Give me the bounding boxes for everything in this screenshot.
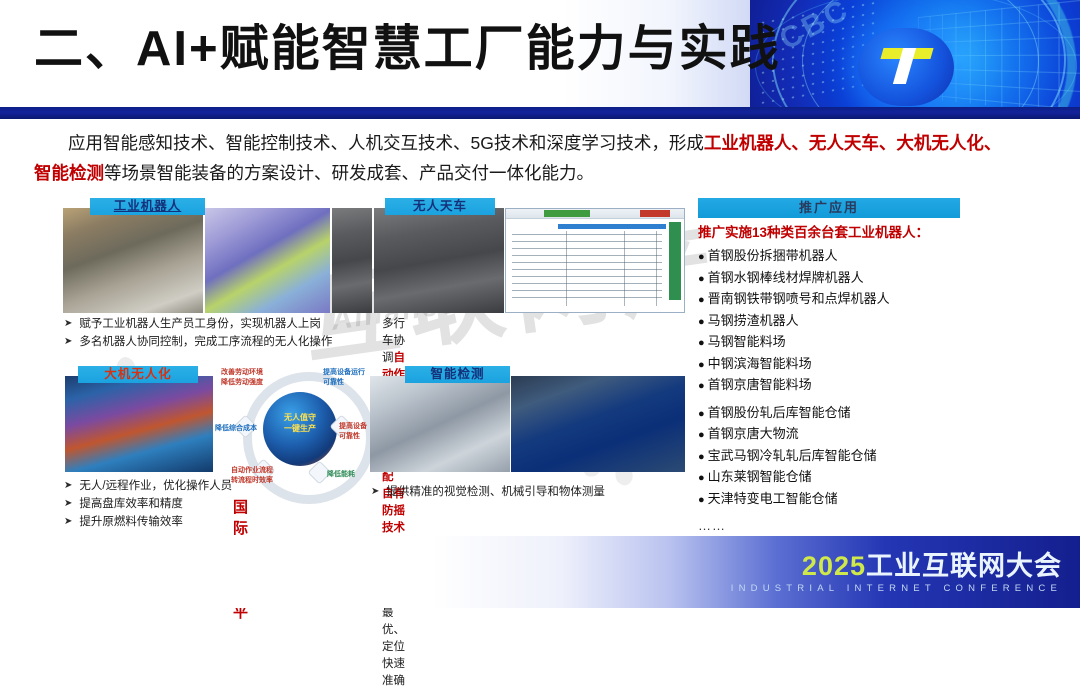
bullet-row: ➤ 提供精准的视觉检测、机械引导和物体测量 <box>371 484 605 500</box>
promotion-more-ellipsis: …… <box>698 518 960 533</box>
promotion-panel: 推广应用 推广实施13种类百余台套工业机器人： ●首钢股份拆捆带机器人 ●首钢水… <box>698 198 960 533</box>
arrow-bullet-icon: ➤ <box>371 484 379 500</box>
infographic-label: 降低综合成本 <box>215 424 257 433</box>
photo-vision-inspection-lab <box>511 376 685 472</box>
photo-robot-coil <box>63 208 203 313</box>
list-item: ●首钢股份轧后库智能仓储 <box>698 403 960 425</box>
arrow-bullet-icon: ➤ <box>64 334 72 350</box>
hmi-software-window <box>505 208 685 313</box>
bullet-dot-icon: ● <box>698 251 705 263</box>
caption-intelligent-inspection: 智能检测 <box>405 366 510 383</box>
photo-robot-3d-model <box>205 208 330 313</box>
list-item: ●晋南钢铁带钢喷号和点焊机器人 <box>698 289 960 311</box>
bullet-row: ➤ 提升原燃料传输效率 <box>64 514 232 530</box>
photo-vision-inspection-rig <box>370 376 510 472</box>
infographic-label: 提高设备 <box>339 422 367 431</box>
caption-large-machine-unmanned: 大机无人化 <box>78 366 198 383</box>
list-item-label: 首钢水钢棒线材焊牌机器人 <box>708 270 864 285</box>
list-item: ●山东莱钢智能仓储 <box>698 467 960 489</box>
photo-robot-arm <box>332 208 372 313</box>
bullet-dot-icon: ● <box>698 494 705 506</box>
conference-logo-main: 2025工业互联网大会 <box>731 551 1062 581</box>
list-item-label: 山东莱钢智能仓储 <box>708 469 812 484</box>
list-item: ●宝武马钢冷轧轧后库智能仓储 <box>698 446 960 468</box>
caption-industrial-robot: 工业机器人 <box>90 198 205 215</box>
infographic-center-line2: 一键生产 <box>263 423 337 434</box>
list-item-label: 宝武马钢冷轧轧后库智能仓储 <box>708 448 877 463</box>
arrow-bullet-icon: ➤ <box>64 496 72 512</box>
conference-name-cn: 工业互联网大会 <box>866 551 1062 581</box>
list-item-label: 首钢京唐大物流 <box>708 426 799 441</box>
bullet-text: 无人/远程作业，优化操作人员 <box>79 478 232 494</box>
infographic-center-text: 无人值守 一键生产 <box>263 412 337 434</box>
infographic-unmanned-production: 无人值守 一键生产 改善劳动环境 降低劳动强度 提高设备运行 可靠性 降低综合成… <box>215 366 385 486</box>
infographic-label: 可靠性 <box>339 432 360 441</box>
header-tech-graphic: CBC <box>750 0 1080 107</box>
list-item: ●天津特变电工智能仓储 <box>698 489 960 511</box>
bullet-row: ➤ 赋予工业机器人生产员工身份，实现机器人上岗 <box>64 316 332 332</box>
arrow-bullet-icon: ➤ <box>64 514 72 530</box>
promotion-lead: 推广实施13种类百余台套工业机器人： <box>698 223 960 242</box>
bullet-dot-icon: ● <box>698 380 705 392</box>
intro-line2-plain: 等场景智能装备的方案设计、研发成套、产品交付一体化能力。 <box>104 163 594 183</box>
intro-paragraph: 应用智能感知技术、智能控制技术、人机交互技术、5G技术和深度学习技术，形成工业机… <box>34 128 1046 188</box>
page-title: 二、AI+赋能智慧工厂能力与实践 <box>34 14 781 84</box>
infographic-label: 降低能耗 <box>327 470 355 479</box>
slide-footer: 2025工业互联网大会 INDUSTRIAL INTERNET CONFEREN… <box>0 536 1080 608</box>
list-item: ●首钢京唐大物流 <box>698 424 960 446</box>
infographic-label: 提高设备运行 <box>323 368 365 377</box>
bullet-dot-icon: ● <box>698 337 705 349</box>
bullet-row: ➤ 无人/远程作业，优化操作人员 <box>64 478 232 494</box>
photo-crane-hmi-screen <box>505 208 685 313</box>
intro-line2-highlight: 智能检测 <box>34 163 104 183</box>
caption-large-machine-label: 大机无人化 <box>104 367 172 381</box>
notes-unmanned-crane: 多行车协调自动作业，与产线需求柔性匹配 自有防摇技术保障行车作业路线最优、定位快… <box>382 316 405 690</box>
bullet-text: 提升原燃料传输效率 <box>79 514 183 530</box>
conference-name-en: INDUSTRIAL INTERNET CONFERENCE <box>731 583 1062 594</box>
bullets-large-machine: ➤ 无人/远程作业，优化操作人员 ➤ 提高盘库效率和精度 ➤ 提升原燃料传输效率 <box>64 478 232 532</box>
list-item: ●马钢智能料场 <box>698 332 960 354</box>
list-item-label: 马钢智能料场 <box>708 334 786 349</box>
arrow-bullet-icon: ➤ <box>64 316 72 332</box>
list-item: ●马钢捞渣机器人 <box>698 311 960 333</box>
bullet-row: ➤ 多名机器人协同控制，完成工序流程的无人化操作 <box>64 334 332 350</box>
caption-unmanned-crane-label: 无人天车 <box>413 199 467 213</box>
bullet-dot-icon: ● <box>698 294 705 306</box>
photo-stacker-reclaimer <box>65 376 213 472</box>
bullets-intelligent-inspection: ➤ 提供精准的视觉检测、机械引导和物体测量 <box>371 484 605 502</box>
header-divider <box>0 107 1080 119</box>
list-item: ●首钢水钢棒线材焊牌机器人 <box>698 268 960 290</box>
bullet-dot-icon: ● <box>698 472 705 484</box>
infographic-label: 自动作业流程 <box>231 466 273 475</box>
bullet-dot-icon: ● <box>698 408 705 420</box>
bullet-dot-icon: ● <box>698 273 705 285</box>
infographic-label: 降低劳动强度 <box>221 378 263 387</box>
infographic-label: 改善劳动环境 <box>221 368 263 377</box>
list-item-label: 中钢滨海智能料场 <box>708 356 812 371</box>
promotion-list: ●首钢股份拆捆带机器人 ●首钢水钢棒线材焊牌机器人 ●晋南钢铁带钢喷号和点焊机器… <box>698 246 960 510</box>
bullet-text: 提供精准的视觉检测、机械引导和物体测量 <box>386 484 605 500</box>
list-item-label: 晋南钢铁带钢喷号和点焊机器人 <box>708 291 890 306</box>
caption-intelligent-inspection-label: 智能检测 <box>430 367 484 381</box>
list-item: ●首钢京唐智能料场 <box>698 375 960 397</box>
slide-header: CBC 二、AI+赋能智慧工厂能力与实践 <box>0 0 1080 107</box>
bullet-row: ➤ 提高盘库效率和精度 <box>64 496 232 512</box>
bullet-dot-icon: ● <box>698 316 705 328</box>
list-item-label: 天津特变电工智能仓储 <box>708 491 838 506</box>
infographic-label: 可靠性 <box>323 378 344 387</box>
list-item-label: 首钢股份拆捆带机器人 <box>708 248 838 263</box>
list-item-label: 首钢京唐智能料场 <box>708 377 812 392</box>
slide-root: CBC 二、AI+赋能智慧工厂能力与实践 应用智能感知技术、智能控制技术、人机交… <box>0 0 1080 608</box>
header-t-logo-icon <box>878 44 934 86</box>
arrow-bullet-icon: ➤ <box>64 478 72 494</box>
bullet-text: 多名机器人协同控制，完成工序流程的无人化操作 <box>79 334 332 350</box>
list-item: ●中钢滨海智能料场 <box>698 354 960 376</box>
bullet-dot-icon: ● <box>698 429 705 441</box>
list-item-label: 马钢捞渣机器人 <box>708 313 799 328</box>
infographic-center-line1: 无人值守 <box>263 412 337 423</box>
infographic-label: 转流程时效率 <box>231 476 273 485</box>
bullets-industrial-robot: ➤ 赋予工业机器人生产员工身份，实现机器人上岗 ➤ 多名机器人协同控制，完成工序… <box>64 316 332 352</box>
list-item: ●首钢股份拆捆带机器人 <box>698 246 960 268</box>
conference-year: 2025 <box>802 551 866 581</box>
bullet-dot-icon: ● <box>698 451 705 463</box>
bullet-text: 提高盘库效率和精度 <box>79 496 183 512</box>
caption-industrial-robot-label: 工业机器人 <box>114 199 182 213</box>
bullet-dot-icon: ● <box>698 359 705 371</box>
intro-line1-plain: 应用智能感知技术、智能控制技术、人机交互技术、5G技术和深度学习技术，形成 <box>68 133 704 153</box>
intro-line1-highlight: 工业机器人、无人天车、大机无人化、 <box>704 133 1002 153</box>
list-item-label: 首钢股份轧后库智能仓储 <box>708 405 851 420</box>
promotion-header: 推广应用 <box>698 198 960 218</box>
conference-logo: 2025工业互联网大会 INDUSTRIAL INTERNET CONFEREN… <box>731 551 1062 594</box>
caption-unmanned-crane: 无人天车 <box>385 198 495 215</box>
bullet-text: 赋予工业机器人生产员工身份，实现机器人上岗 <box>79 316 321 332</box>
photo-crane-yard <box>374 208 504 313</box>
